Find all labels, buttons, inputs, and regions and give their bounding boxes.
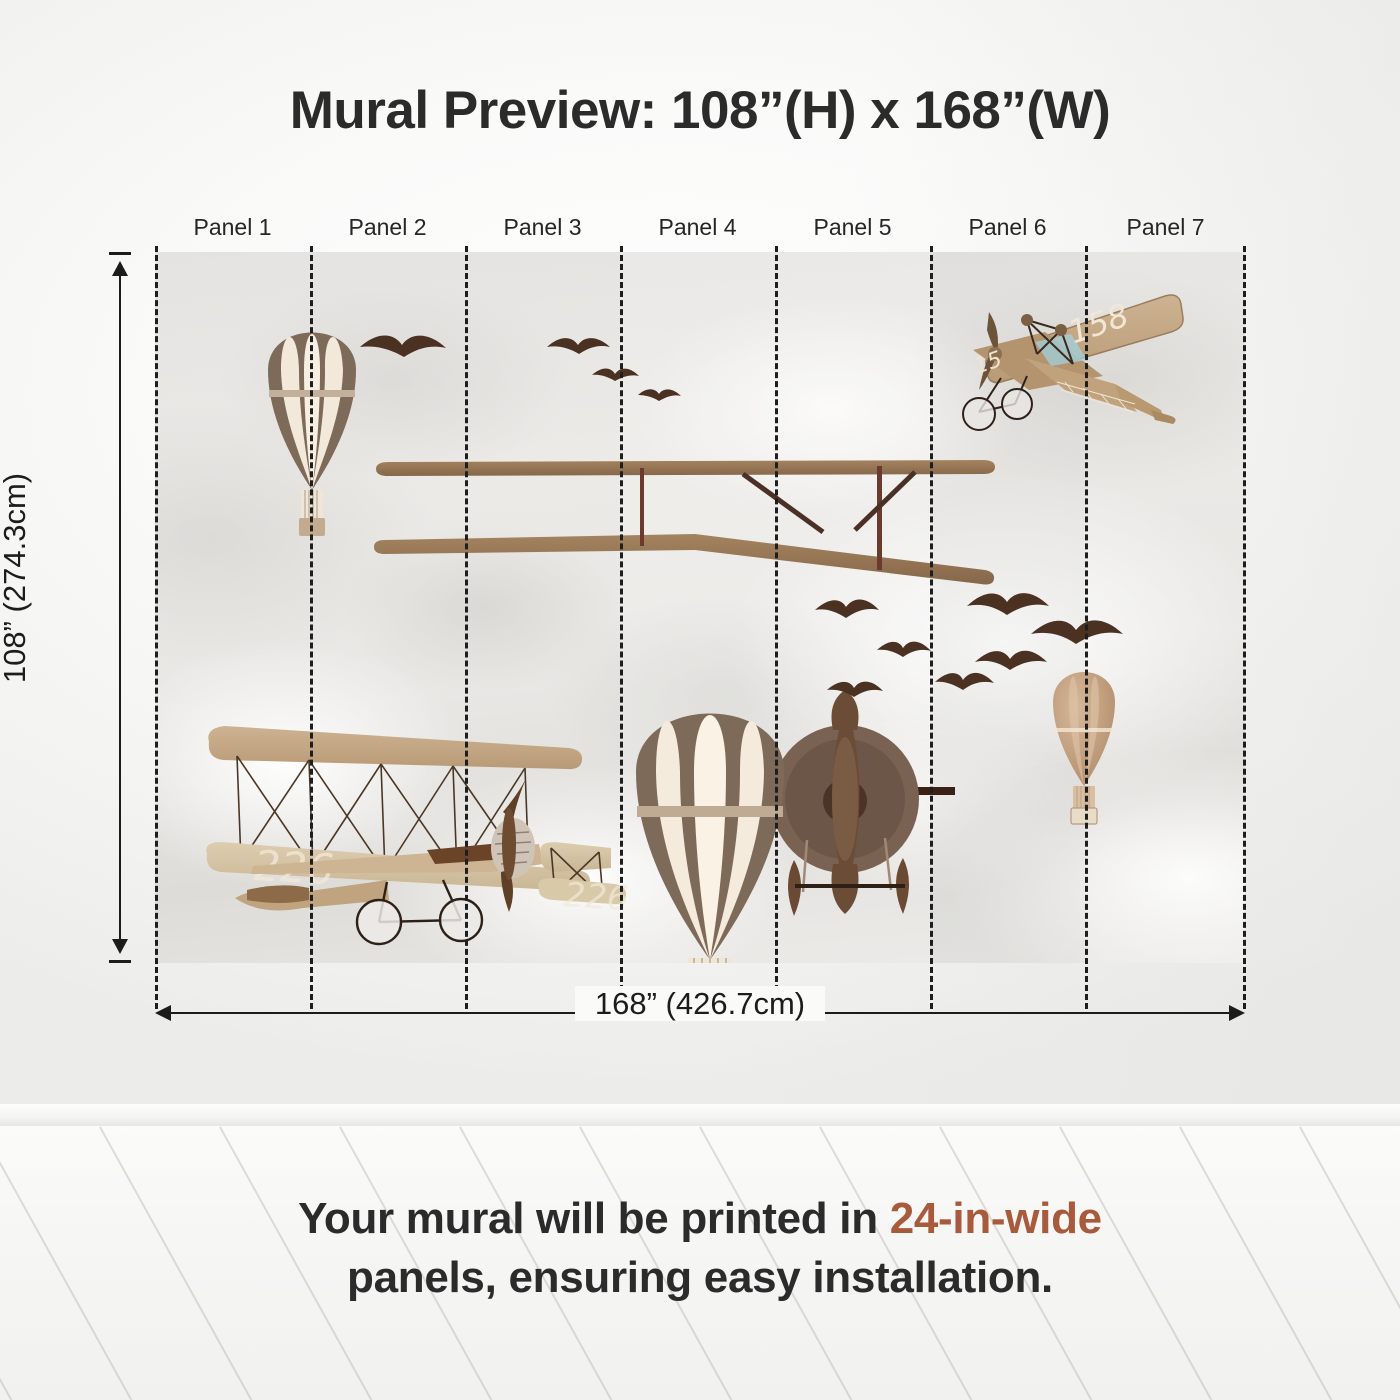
bird-flock-upper-left (360, 336, 446, 358)
dimension-cap-bottom (109, 960, 131, 963)
bird-flock-upper-center (547, 338, 681, 401)
mural-artwork-svg: 158 (155, 252, 1245, 963)
baseboard (0, 1104, 1400, 1126)
panel-label-3: Panel 3 (465, 214, 620, 241)
panel-divider-6 (1085, 246, 1088, 1009)
footer-accent-text: 24-in-wide (890, 1194, 1102, 1243)
dimension-arrowhead-bottom (112, 939, 128, 954)
page-title: Mural Preview: 108”(H) x 168”(W) (0, 80, 1400, 141)
panel-label-1: Panel 1 (155, 214, 310, 241)
panel-divider-4 (775, 246, 778, 1009)
bird-flock-center-right (815, 599, 994, 697)
panel-label-7: Panel 7 (1088, 214, 1243, 241)
panel-divider-1 (310, 246, 313, 1009)
panel-label-2: Panel 2 (310, 214, 465, 241)
width-dimension-label: 168” (426.7cm) (155, 986, 1245, 1022)
dimension-cap-top (109, 252, 131, 255)
bird-flock-lower-right (967, 593, 1123, 670)
panel-divider-5 (930, 246, 933, 1009)
footer-note: Your mural will be printed in 24-in-wide… (0, 1190, 1400, 1308)
width-dimension-text: 168” (426.7cm) (575, 986, 825, 1021)
footer-line1-prefix: Your mural will be printed in (298, 1194, 890, 1243)
height-dimension-arrow (118, 252, 122, 963)
footer-line2: panels, ensuring easy installation. (347, 1253, 1053, 1302)
panel-divider-2 (465, 246, 468, 1009)
biplane-side-lower-left: 226 226 (206, 726, 630, 944)
panel-divider-7 (1243, 246, 1246, 1009)
panel-label-4: Panel 4 (620, 214, 775, 241)
panel-divider-0 (155, 246, 158, 1009)
monoplane-upper-right: 158 (963, 295, 1183, 430)
height-dimension-label: 108” (274.3cm) (0, 368, 33, 788)
width-dimension-arrow: 168” (426.7cm) (155, 1003, 1245, 1025)
panel-label-5: Panel 5 (775, 214, 930, 241)
panel-label-6: Panel 6 (930, 214, 1085, 241)
dimension-line-vertical (119, 263, 121, 952)
panel-divider-3 (620, 246, 623, 1009)
hot-air-balloon-center (636, 714, 784, 964)
mural-preview-image: 158 (155, 252, 1245, 963)
hot-air-balloon-small-right (1053, 672, 1115, 824)
